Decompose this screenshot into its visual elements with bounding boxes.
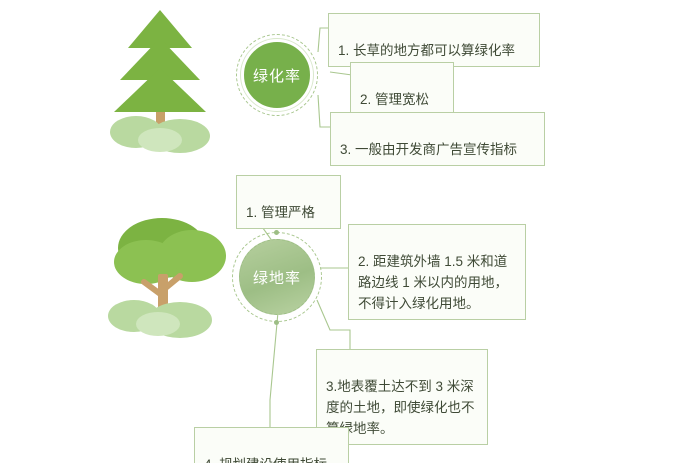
callout-top-2: 2. 管理宽松 xyxy=(350,62,454,116)
callout-top-3: 3. 一般由开发商广告宣传指标 xyxy=(330,112,545,166)
callout-top-3-text: 3. 一般由开发商广告宣传指标 xyxy=(340,142,517,157)
callout-bottom-2-text: 2. 距建筑外墙 1.5 米和道 路边线 1 米以内的用地， 不得计入绿化用地。 xyxy=(358,254,508,311)
callout-bottom-4-text: 4. 规划建设使用指标 xyxy=(204,457,327,463)
node-greening-rate-label: 绿化率 xyxy=(253,65,301,86)
ring-dot-top xyxy=(274,230,279,235)
diagram-canvas: 绿化率 1. 长草的地方都可以算绿化率 2. 管理宽松 3. 一般由开发商广告宣… xyxy=(0,0,692,463)
ring-dot-bottom xyxy=(274,320,279,325)
callout-bottom-1-text: 1. 管理严格 xyxy=(246,205,315,220)
node-green-land-ratio-label: 绿地率 xyxy=(253,267,301,288)
callout-bottom-1: 1. 管理严格 xyxy=(236,175,341,229)
broadleaf-tree-icon xyxy=(100,212,250,340)
callout-top-2-text: 2. 管理宽松 xyxy=(360,92,429,107)
conifer-tree-icon xyxy=(96,6,226,154)
node-green-land-ratio: 绿地率 xyxy=(239,239,315,315)
callout-top-1: 1. 长草的地方都可以算绿化率 xyxy=(328,13,540,67)
callout-top-1-text: 1. 长草的地方都可以算绿化率 xyxy=(338,43,515,58)
callout-bottom-4: 4. 规划建设使用指标 xyxy=(194,427,349,463)
node-greening-rate: 绿化率 xyxy=(241,39,313,111)
callout-bottom-2: 2. 距建筑外墙 1.5 米和道 路边线 1 米以内的用地， 不得计入绿化用地。 xyxy=(348,224,526,320)
